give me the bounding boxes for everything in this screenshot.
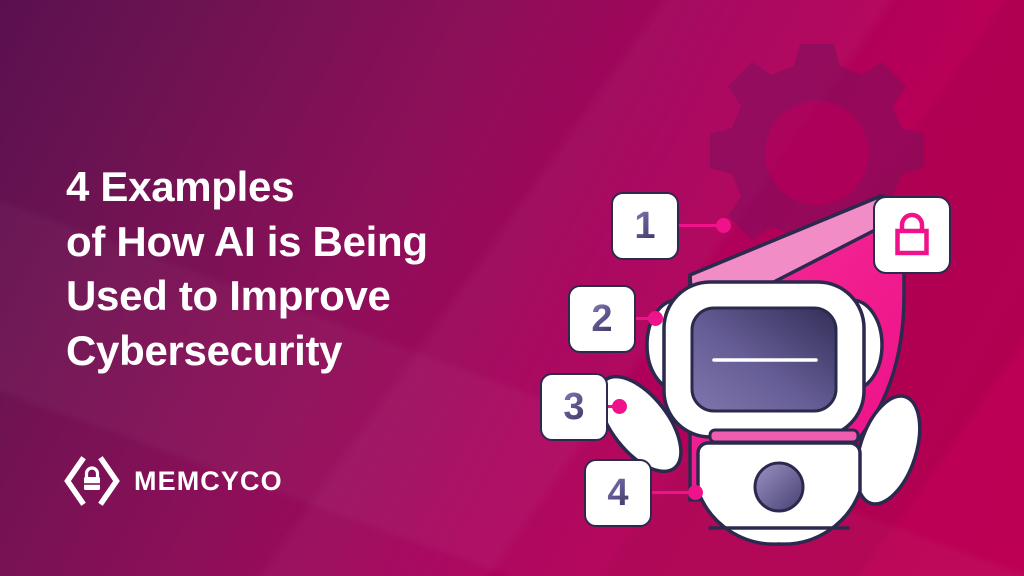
- page-title: 4 Examples of How AI is Being Used to Im…: [66, 160, 536, 378]
- memcyco-logo: MEMCYCO: [64, 455, 283, 507]
- padlock-card: [873, 196, 951, 274]
- connector-line-4: [652, 491, 693, 494]
- number-card-3-label: 3: [563, 388, 584, 426]
- connector-line-1: [679, 224, 721, 227]
- number-card-2-label: 2: [591, 300, 612, 338]
- robot-neck: [710, 430, 858, 442]
- padlock-icon: [891, 212, 933, 258]
- connector-dot-4: [688, 485, 703, 500]
- number-card-1: 1: [611, 192, 679, 260]
- logo-wordmark: MEMCYCO: [134, 466, 283, 497]
- connector-dot-2: [648, 311, 663, 326]
- number-card-3: 3: [540, 373, 608, 441]
- robot-body-button: [755, 463, 803, 511]
- number-card-2: 2: [568, 285, 636, 353]
- code-brackets-padlock-icon: [64, 455, 120, 507]
- connector-dot-1: [716, 218, 731, 233]
- connector-dot-3: [612, 399, 627, 414]
- promo-banner: 1 2 3 4 4 Examples of How AI is Being Us…: [0, 0, 1024, 576]
- number-card-1-label: 1: [634, 207, 655, 245]
- number-card-4: 4: [584, 459, 652, 527]
- number-card-4-label: 4: [607, 474, 628, 512]
